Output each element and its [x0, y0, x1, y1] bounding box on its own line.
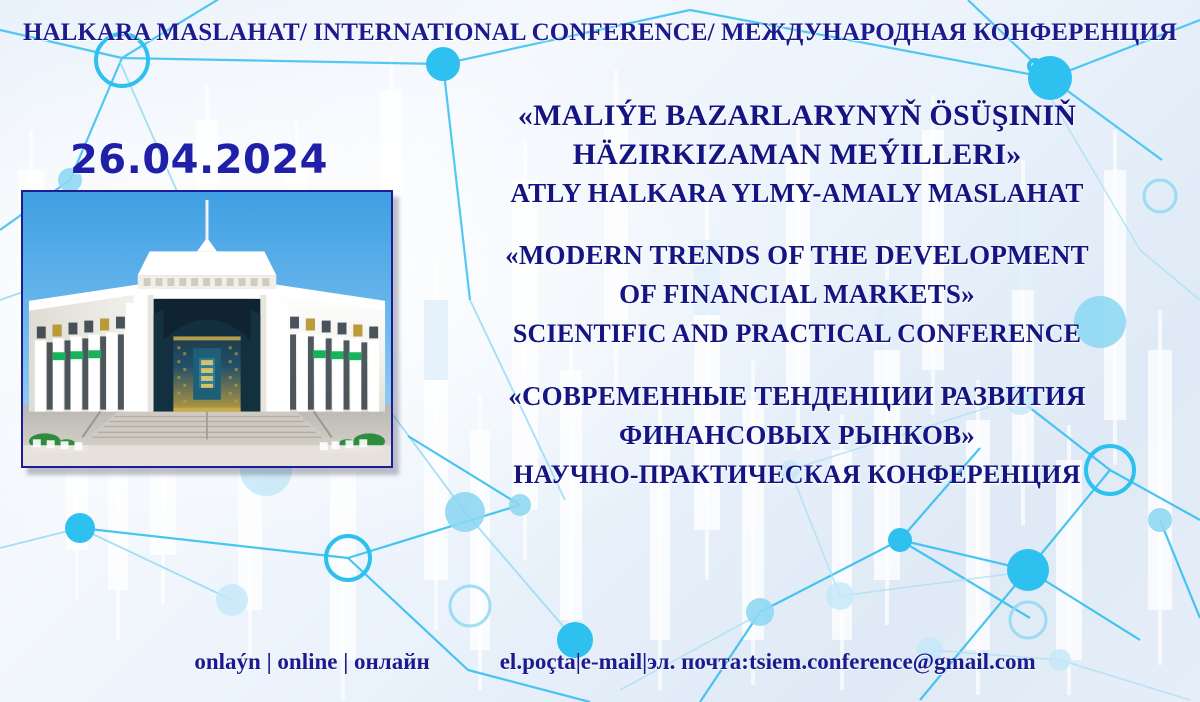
russian-title-line-1: «СОВРЕМЕННЫЕ ТЕНДЕНЦИИ РАЗВИТИЯ: [404, 377, 1190, 416]
conference-date: 26.04.2024: [24, 137, 374, 183]
conference-poster: HALKARA MASLAHAT/ INTERNATIONAL CONFEREN…: [0, 0, 1200, 702]
russian-title-line-2: ФИНАНСОВЫХ РЫНКОВ»: [404, 416, 1190, 455]
title-block-turkmen: «MALIÝE BAZARLARYNYŇ ÖSÜŞINIŇ HÄZIRKIZAM…: [404, 96, 1190, 212]
poster-footer: onlaýn | online | онлайн el.poçta|e-mail…: [0, 649, 1200, 675]
turkmen-subtitle: ATLY HALKARA YLMY-AMALY MASLAHAT: [404, 174, 1190, 212]
institute-building-photo: [21, 190, 393, 468]
title-block-english: «MODERN TRENDS OF THE DEVELOPMENT OF FIN…: [404, 236, 1190, 353]
poster-header-title: HALKARA MASLAHAT/ INTERNATIONAL CONFEREN…: [0, 19, 1200, 47]
turkmen-title-line-1: «MALIÝE BAZARLARYNYŇ ÖSÜŞINIŇ: [404, 96, 1190, 135]
contact-email-label[interactable]: el.poçta|e-mail|эл. почта:tsiem.conferen…: [500, 649, 1036, 675]
english-title-line-1: «MODERN TRENDS OF THE DEVELOPMENT: [404, 236, 1190, 275]
participation-mode-label: onlaýn | online | онлайн: [194, 649, 429, 675]
english-title-line-2: OF FINANCIAL MARKETS»: [404, 275, 1190, 314]
conference-titles: «MALIÝE BAZARLARYNYŇ ÖSÜŞINIŇ HÄZIRKIZAM…: [404, 96, 1190, 494]
english-subtitle: SCIENTIFIC AND PRACTICAL CONFERENCE: [404, 314, 1190, 353]
title-block-russian: «СОВРЕМЕННЫЕ ТЕНДЕНЦИИ РАЗВИТИЯ ФИНАНСОВ…: [404, 377, 1190, 494]
russian-subtitle: НАУЧНО-ПРАКТИЧЕСКАЯ КОНФЕРЕНЦИЯ: [404, 455, 1190, 494]
turkmen-title-line-2: HÄZIRKIZAMAN MEÝILLERI»: [404, 135, 1190, 174]
building-illustration: [23, 192, 391, 467]
